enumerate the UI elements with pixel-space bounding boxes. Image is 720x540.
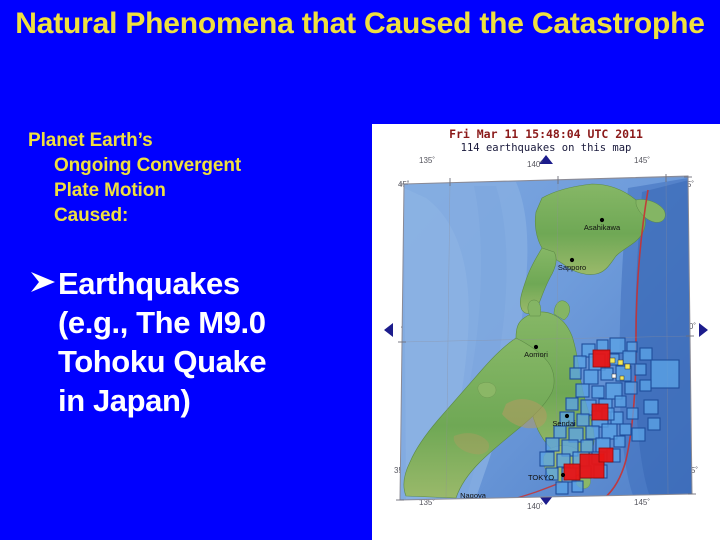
pan-left-arrow-icon[interactable] <box>384 323 393 337</box>
arrowhead-bullet-icon <box>28 266 58 298</box>
bullet-item-earthquakes: Earthquakes (e.g., The M9.0 Tohoku Quake… <box>28 264 368 420</box>
lon-label-top-145: 145˚ <box>634 156 650 165</box>
city-label-asahikawa: Asahikawa <box>584 223 621 232</box>
lead-line-1: Planet Earth’s <box>28 130 153 151</box>
city-label-sapporo: Sapporo <box>558 263 586 272</box>
city-label-aomori: Aomori <box>524 350 548 359</box>
left-text-column: Planet Earth’s Ongoing Convergent Plate … <box>28 128 368 420</box>
city-label-sendai: Sendai <box>552 419 576 428</box>
map-header: Fri Mar 11 15:48:04 UTC 2011 114 earthqu… <box>372 127 720 154</box>
lead-paragraph: Planet Earth’s Ongoing Convergent Plate … <box>28 128 368 228</box>
bullet-line-3: Tohoku Quake <box>58 342 368 381</box>
page-title: Natural Phenomena that Caused the Catast… <box>0 6 720 41</box>
bullet-text: Earthquakes (e.g., The M9.0 Tohoku Quake… <box>58 264 368 420</box>
lead-line-4: Caused: <box>54 203 368 228</box>
bullet-line-1: Earthquakes <box>58 264 368 303</box>
lead-line-2: Ongoing Convergent <box>54 153 368 178</box>
bullet-line-2: (e.g., The M9.0 <box>58 303 368 342</box>
earthquake-map-panel: Fri Mar 11 15:48:04 UTC 2011 114 earthqu… <box>372 124 720 540</box>
map-quake-count-label: 114 earthquakes on this map <box>372 142 720 154</box>
lon-label-top-135: 135˚ <box>419 156 435 165</box>
lead-line-3: Plate Motion <box>54 178 368 203</box>
slide-canvas: Natural Phenomena that Caused the Catast… <box>0 0 720 540</box>
pan-right-arrow-icon[interactable] <box>699 323 708 337</box>
map-content: Asahikawa Sapporo Aomori Sendai TOKYO Na… <box>396 168 696 508</box>
bullet-line-4: in Japan) <box>58 381 368 420</box>
map-date-label: Fri Mar 11 15:48:04 UTC 2011 <box>372 127 720 141</box>
map-graphic[interactable]: Asahikawa Sapporo Aomori Sendai TOKYO Na… <box>396 168 696 508</box>
tsugaru-peninsula <box>528 300 541 316</box>
city-label-tokyo: TOKYO <box>528 473 554 482</box>
